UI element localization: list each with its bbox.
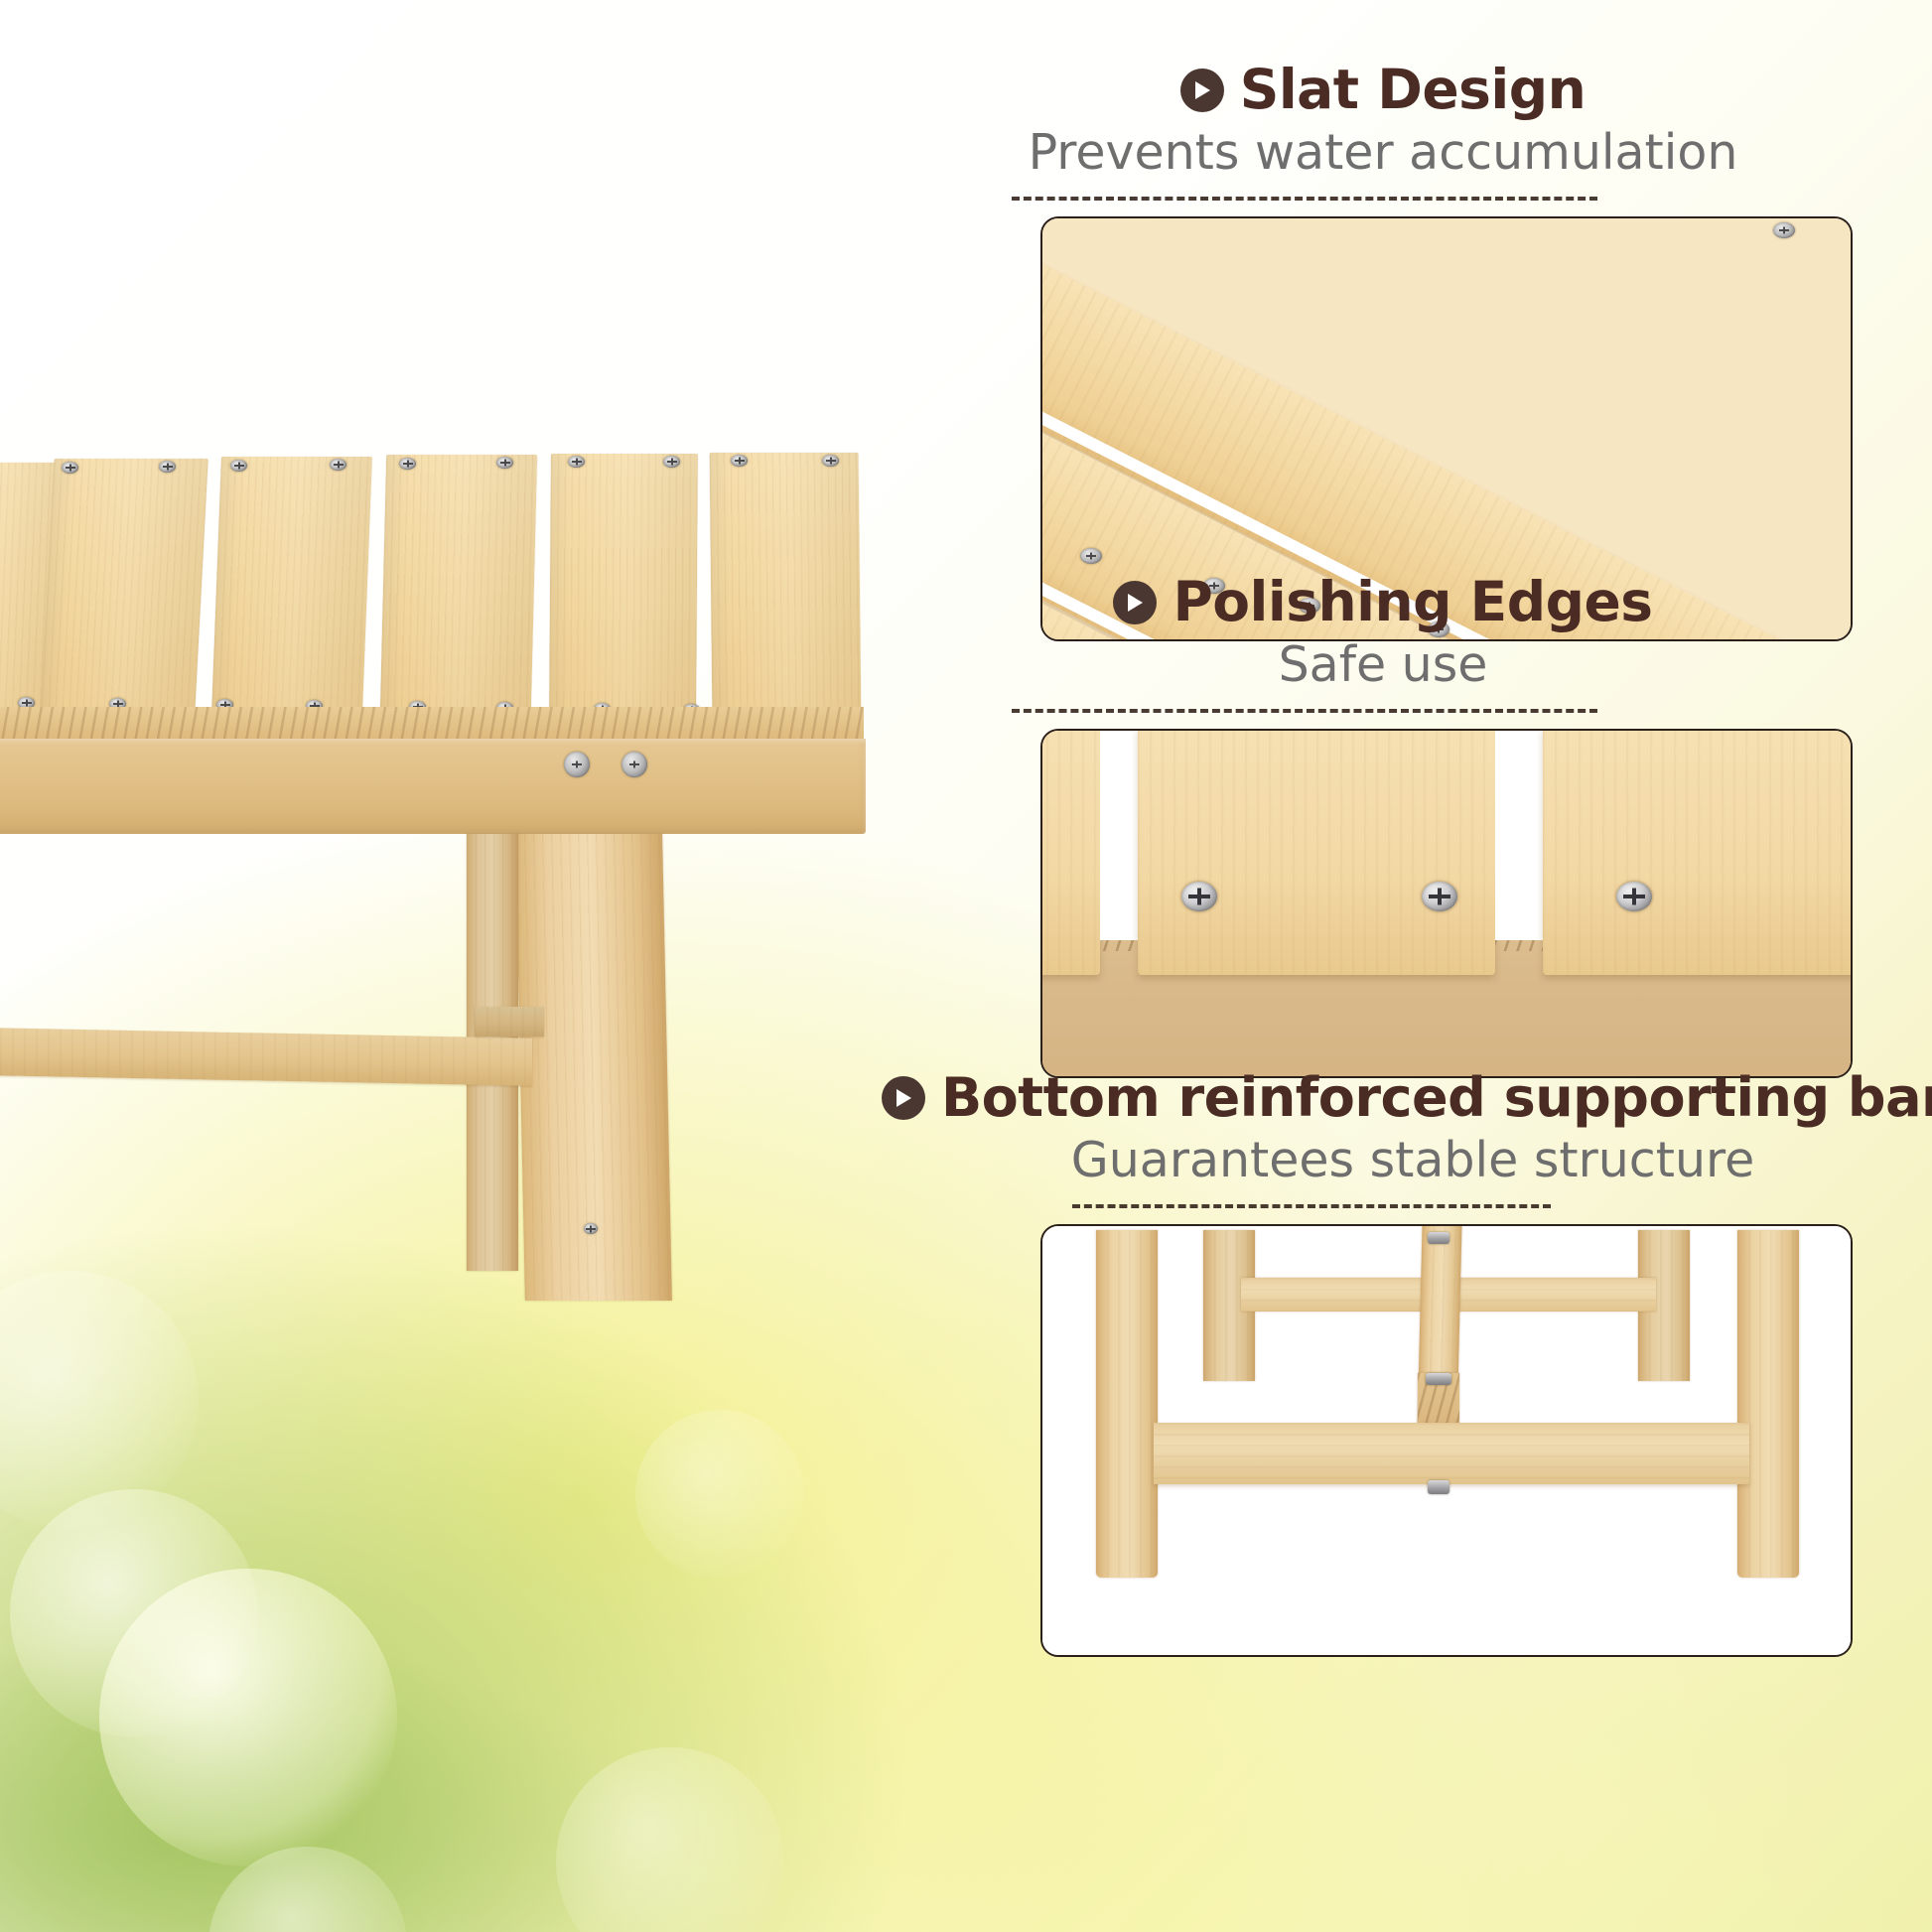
feature-title: Polishing Edges xyxy=(1173,574,1652,631)
feature-subtitle: Safe use xyxy=(834,637,1932,693)
feature-image-card xyxy=(1040,729,1853,1078)
screw-icon xyxy=(230,460,247,472)
slat-gap xyxy=(1100,731,1138,940)
screw-icon xyxy=(584,1223,598,1234)
play-triangle-icon xyxy=(882,1076,925,1120)
play-triangle-icon xyxy=(1180,69,1224,112)
polished-slat xyxy=(1042,731,1100,975)
screw-icon xyxy=(564,752,590,777)
screw-icon xyxy=(496,457,513,469)
feature-heading-row: Slat Design xyxy=(834,62,1932,119)
screw-icon xyxy=(1616,882,1652,911)
screw-icon xyxy=(1422,882,1457,911)
screw-icon xyxy=(159,461,176,473)
screw-icon xyxy=(1080,548,1102,564)
screw-icon xyxy=(399,458,416,470)
screw-icon xyxy=(731,455,748,467)
feature-image-card xyxy=(1040,1224,1853,1657)
bench-slat xyxy=(211,457,372,714)
bolt-icon xyxy=(1428,1232,1449,1244)
hero-product-photo xyxy=(0,0,874,1932)
bolt-icon xyxy=(1426,1373,1451,1385)
feature-title: Bottom reinforced supporting bar xyxy=(941,1070,1932,1127)
bottom-reinforced-bar xyxy=(1154,1423,1749,1484)
feature-heading-row: Bottom reinforced supporting bar xyxy=(834,1070,1932,1127)
feature-dashed-divider xyxy=(1072,1204,1551,1208)
screw-icon xyxy=(330,459,346,471)
bench-slat xyxy=(380,455,537,714)
bench-leg xyxy=(1737,1230,1799,1578)
bench-apron xyxy=(0,739,866,834)
bottom-support-bar-image xyxy=(1042,1226,1851,1655)
bench-support-bar-rear xyxy=(475,1007,544,1036)
feature-heading-row: Polishing Edges xyxy=(834,574,1932,631)
feature-dashed-divider xyxy=(1012,709,1597,713)
feature-title: Slat Design xyxy=(1240,62,1587,119)
slat-gap xyxy=(1495,731,1543,940)
feature-block-bottom-supporting-bar: Bottom reinforced supporting bar Guarant… xyxy=(834,1070,1932,1657)
polished-edge-closeup-image xyxy=(1042,731,1851,1076)
bolt-icon xyxy=(1428,1480,1449,1494)
feature-list: Slat Design Prevents water accumulation xyxy=(834,0,1932,1932)
screw-icon xyxy=(1773,222,1795,238)
bench-support-bar xyxy=(0,1027,532,1085)
feature-subtitle: Guarantees stable structure xyxy=(834,1133,1932,1188)
play-triangle-icon xyxy=(1113,581,1157,624)
bench-slat-end-grain xyxy=(0,707,864,741)
feature-dashed-divider xyxy=(1012,197,1597,201)
screw-icon xyxy=(621,752,647,777)
screw-icon xyxy=(1181,882,1217,911)
feature-block-slat-design: Slat Design Prevents water accumulation xyxy=(834,62,1932,641)
bench-slat xyxy=(41,459,207,714)
bench-leg xyxy=(1096,1230,1158,1578)
screw-icon xyxy=(568,456,585,468)
feature-block-polishing-edges: Polishing Edges Safe use xyxy=(834,574,1932,1078)
polished-slat xyxy=(1543,731,1851,975)
bench-slat xyxy=(549,454,698,714)
screw-icon xyxy=(663,456,680,468)
polished-slat xyxy=(1138,731,1495,975)
screw-icon xyxy=(62,462,78,474)
feature-subtitle: Prevents water accumulation xyxy=(834,125,1932,181)
